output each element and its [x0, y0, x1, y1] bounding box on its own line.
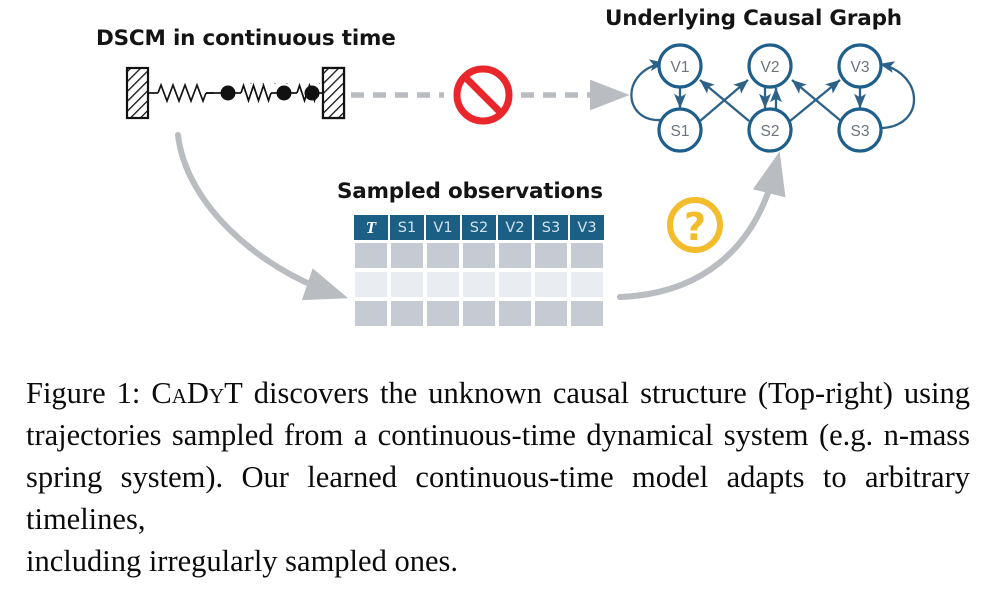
caption-prefix: Figure 1:	[26, 376, 151, 410]
graph-node-s1-label: S1	[671, 123, 690, 140]
table-cell	[462, 242, 496, 269]
table-cell	[498, 271, 532, 298]
table-header-t: T	[354, 215, 388, 240]
table-header-s2: S2	[462, 215, 496, 240]
table-cell	[426, 271, 460, 298]
table-cell	[426, 242, 460, 269]
graph-node-v2-label: V2	[761, 59, 780, 76]
graph-node-s2[interactable]: S2	[749, 109, 791, 151]
heading-dscm: DSCM in continuous time	[96, 26, 396, 51]
table-header-row: T S1 V1 S2 V2 S3 V3	[354, 215, 604, 240]
table-header-v3: V3	[570, 215, 604, 240]
table-cell	[354, 271, 388, 298]
table-cell	[534, 271, 568, 298]
table-cell	[390, 300, 424, 327]
table-cell	[570, 271, 604, 298]
graph-node-s1[interactable]: S1	[659, 109, 701, 151]
caption-body-last: including irregularly sampled ones.	[26, 540, 970, 582]
figure-caption: Figure 1: CaDyT discovers the unknown ca…	[26, 372, 970, 582]
table-cell	[462, 271, 496, 298]
graph-node-v1-label: V1	[671, 59, 690, 76]
table-cell	[498, 242, 532, 269]
table-row	[354, 271, 604, 298]
graph-node-v2[interactable]: V2	[749, 45, 791, 87]
table-header-s3: S3	[534, 215, 568, 240]
observations-table: T S1 V1 S2 V2 S3 V3	[352, 213, 606, 329]
question-mark-icon: ?	[670, 200, 720, 250]
table-cell	[534, 300, 568, 327]
table-cell	[390, 271, 424, 298]
table-cell	[570, 300, 604, 327]
graph-node-s3[interactable]: S3	[839, 109, 881, 151]
caption-method-name: CaDyT	[151, 376, 242, 410]
table-cell	[354, 242, 388, 269]
table-cell	[354, 300, 388, 327]
table-cell	[390, 242, 424, 269]
no-entry-icon	[457, 69, 509, 121]
mass-spring-system-icon	[127, 68, 344, 118]
heading-sampled-observations: Sampled observations	[337, 179, 603, 204]
graph-node-v3-label: V3	[851, 59, 870, 76]
causal-graph: V1 V2 V3 S1 S2 S3	[631, 45, 914, 151]
table-header-v1: V1	[426, 215, 460, 240]
graph-node-s3-label: S3	[851, 123, 870, 140]
table-cell	[570, 242, 604, 269]
graph-node-s2-label: S2	[761, 123, 780, 140]
table-header-s1: S1	[390, 215, 424, 240]
heading-causal-graph: Underlying Causal Graph	[605, 6, 902, 31]
svg-text:?: ?	[684, 205, 706, 249]
table-row	[354, 300, 604, 327]
table-cell	[462, 300, 496, 327]
table-row	[354, 242, 604, 269]
table-cell	[534, 242, 568, 269]
graph-node-v3[interactable]: V3	[839, 45, 881, 87]
figure-panel: V1 V2 V3 S1 S2 S3	[0, 0, 993, 368]
table-cell	[498, 300, 532, 327]
curved-arrow-spring-to-table	[178, 135, 330, 292]
table-cell	[426, 300, 460, 327]
table-header-v2: V2	[498, 215, 532, 240]
graph-node-v1[interactable]: V1	[659, 45, 701, 87]
